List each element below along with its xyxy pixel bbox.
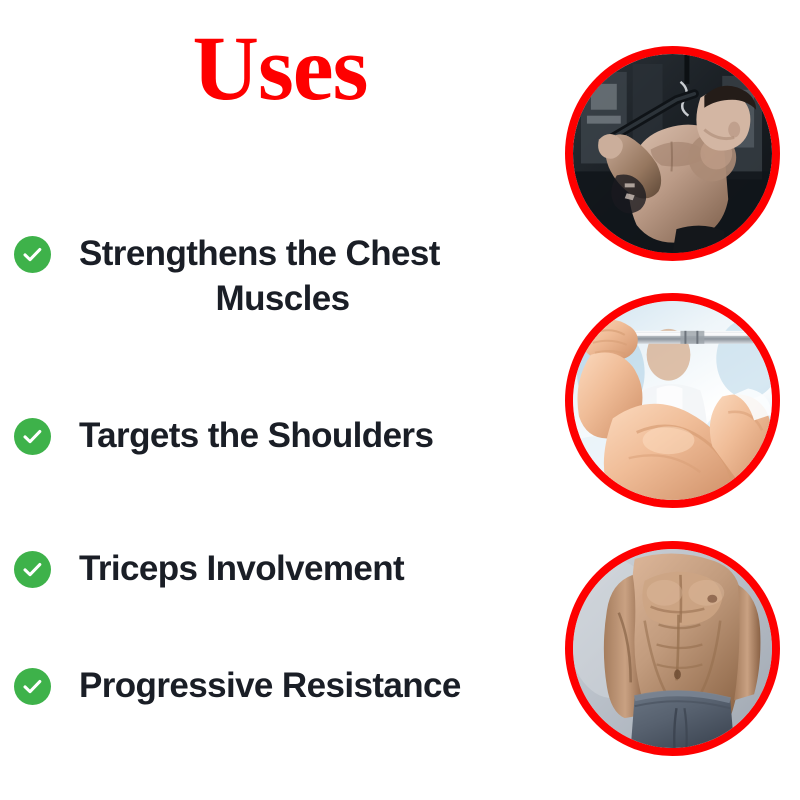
page-title: Uses bbox=[0, 22, 560, 114]
check-circle-icon bbox=[14, 668, 51, 705]
photo-abs-torso-image bbox=[573, 549, 772, 748]
photo-abs-torso bbox=[565, 541, 780, 756]
list-item-label: Strengthens the Chest Muscles bbox=[79, 232, 556, 322]
list-item-label-line1: Strengthens the Chest bbox=[79, 234, 440, 273]
list-item: Targets the Shoulders bbox=[0, 414, 556, 459]
photo-lat-pulldown-image bbox=[573, 54, 772, 253]
list-item-label: Progressive Resistance bbox=[79, 664, 556, 709]
check-circle-icon bbox=[14, 418, 51, 455]
photo-biceps-barbell-image bbox=[573, 301, 772, 500]
list-item-label-line2: Muscles bbox=[79, 277, 534, 322]
list-item: Progressive Resistance bbox=[0, 664, 556, 709]
list-item-label: Targets the Shoulders bbox=[79, 414, 556, 459]
check-circle-icon bbox=[14, 551, 51, 588]
list-item: Strengthens the Chest Muscles bbox=[0, 232, 556, 322]
uses-infographic-poster: Uses Strengthens the Chest Muscles Targe… bbox=[0, 0, 800, 800]
list-item-label: Triceps Involvement bbox=[79, 547, 556, 592]
list-item: Triceps Involvement bbox=[0, 547, 556, 592]
check-circle-icon bbox=[14, 236, 51, 273]
photo-biceps-barbell bbox=[565, 293, 780, 508]
photo-lat-pulldown bbox=[565, 46, 780, 261]
